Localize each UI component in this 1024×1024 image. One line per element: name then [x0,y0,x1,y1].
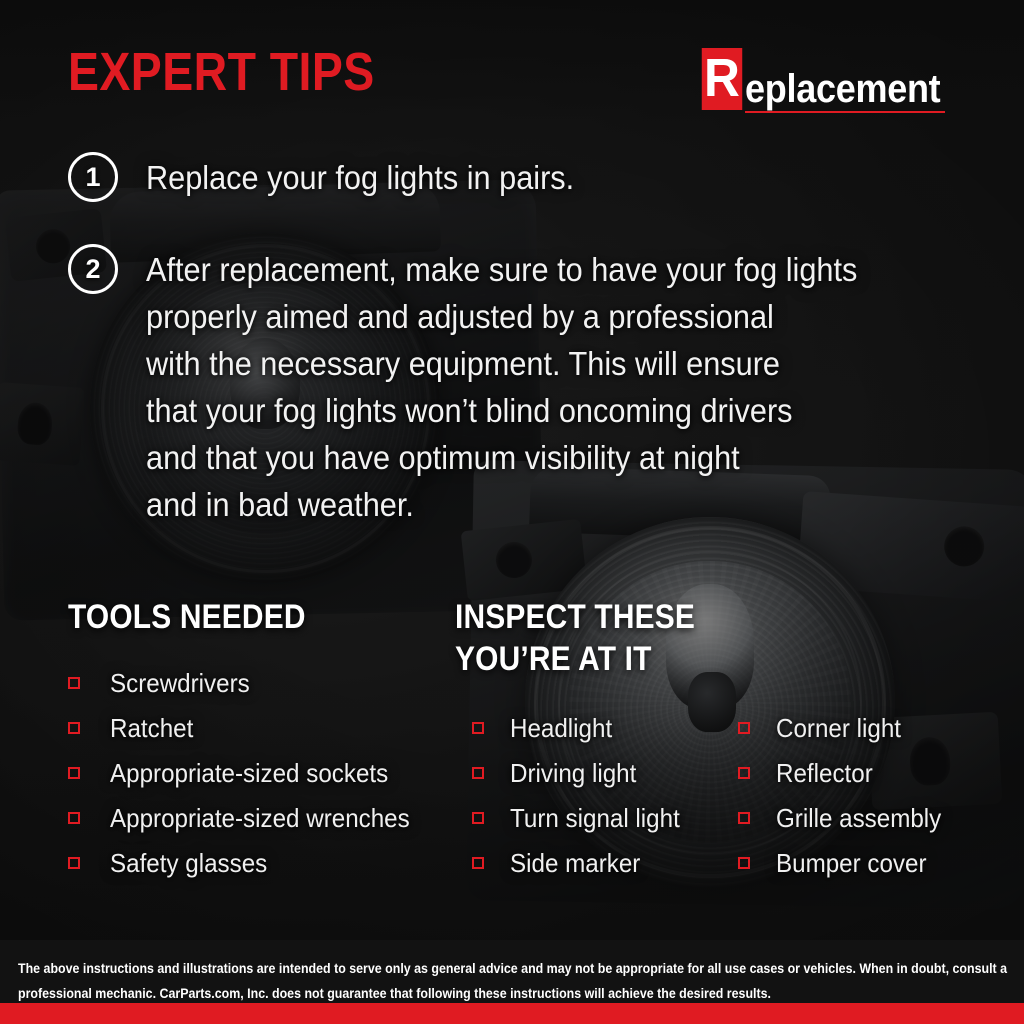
list-item[interactable]: Turn signal light [472,795,693,840]
inspect-section-title: INSPECT THESE YOU’RE AT IT [455,596,695,680]
list-item-label: Turn signal light [510,804,680,832]
checkbox-icon[interactable] [68,677,80,689]
brand-logo-initial: R [702,48,742,110]
list-item[interactable]: Headlight [472,705,693,750]
tip-number-badge: 2 [68,244,118,294]
tip-item-2: 2 After replacement, make sure to have y… [68,244,911,528]
list-item-label: Side marker [510,849,640,877]
inspect-checklist-column-left: Headlight Driving light Turn signal ligh… [472,705,693,885]
checkbox-icon[interactable] [738,812,750,824]
checkbox-icon[interactable] [68,722,80,734]
tip-item-1: 1 Replace your fog lights in pairs. [68,152,606,202]
tip-text: After replacement, make sure to have you… [146,246,857,528]
list-item[interactable]: Side marker [472,840,693,885]
tools-checklist: Screwdrivers Ratchet Appropriate-sized s… [68,660,432,885]
list-item-label: Reflector [776,759,873,787]
list-item-label: Ratchet [110,714,193,742]
list-item-label: Screwdrivers [110,669,250,697]
brand-logo-underline [745,111,945,113]
tip-number-badge: 1 [68,152,118,202]
tip-text: Replace your fog lights in pairs. [146,154,574,201]
checkbox-icon[interactable] [68,857,80,869]
brand-logo: R eplacement [700,48,962,110]
list-item[interactable]: Appropriate-sized wrenches [68,795,432,840]
list-item[interactable]: Safety glasses [68,840,432,885]
list-item[interactable]: Driving light [472,750,693,795]
list-item[interactable]: Screwdrivers [68,660,432,705]
checkbox-icon[interactable] [738,857,750,869]
list-item[interactable]: Grille assembly [738,795,954,840]
list-item-label: Appropriate-sized sockets [110,759,388,787]
list-item-label: Corner light [776,714,901,742]
list-item[interactable]: Bumper cover [738,840,954,885]
list-item[interactable]: Corner light [738,705,954,750]
list-item-label: Bumper cover [776,849,927,877]
brand-logo-wordmark: eplacement [745,68,940,110]
list-item[interactable]: Appropriate-sized sockets [68,750,432,795]
content-layer: EXPERT TIPS R eplacement 1 Replace your … [0,0,1024,1024]
expert-tips-infographic: EXPERT TIPS R eplacement 1 Replace your … [0,0,1024,1024]
checkbox-icon[interactable] [472,812,484,824]
list-item-label: Grille assembly [776,804,941,832]
tools-section-title: TOOLS NEEDED [68,596,306,638]
list-item-label: Safety glasses [110,849,267,877]
list-item-label: Appropriate-sized wrenches [110,804,410,832]
inspect-checklist-column-right: Corner light Reflector Grille assembly B… [738,705,954,885]
footer: The above instructions and illustrations… [0,940,1024,1003]
brand-logo-wordmark-wrap: eplacement [745,68,962,110]
checkbox-icon[interactable] [738,722,750,734]
list-item-label: Headlight [510,714,612,742]
footer-accent-bar [0,1003,1024,1024]
list-item[interactable]: Reflector [738,750,954,795]
footer-disclaimer: The above instructions and illustrations… [18,956,1024,1006]
checkbox-icon[interactable] [68,767,80,779]
checkbox-icon[interactable] [472,857,484,869]
page-title: EXPERT TIPS [68,45,375,99]
checkbox-icon[interactable] [68,812,80,824]
checkbox-icon[interactable] [738,767,750,779]
checkbox-icon[interactable] [472,767,484,779]
checkbox-icon[interactable] [472,722,484,734]
list-item-label: Driving light [510,759,636,787]
list-item[interactable]: Ratchet [68,705,432,750]
